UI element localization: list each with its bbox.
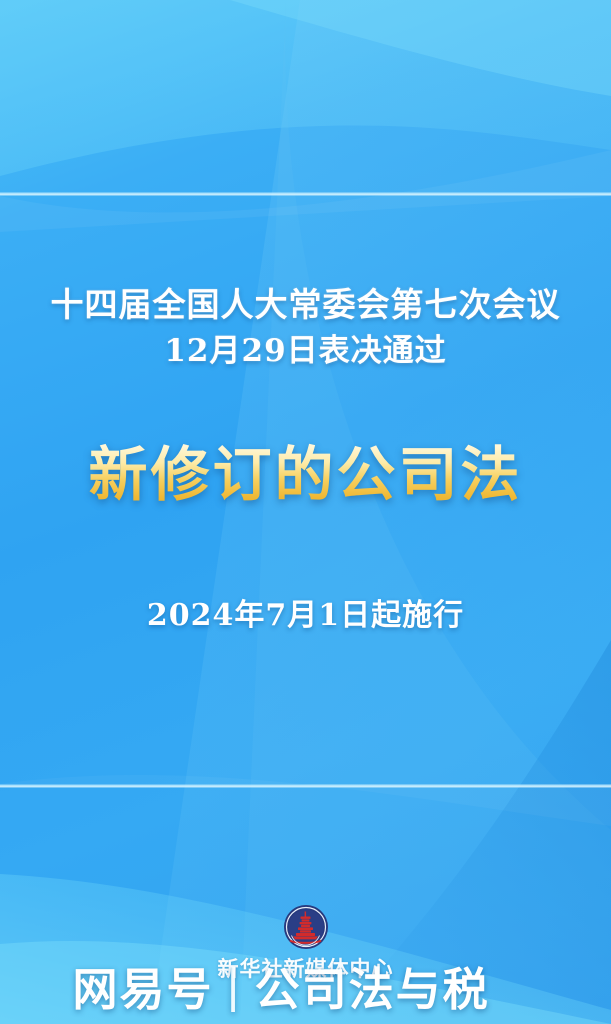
effective-date-subtitle: 2024年7月1日起施行 — [147, 590, 464, 634]
watermark-separator: | — [225, 959, 242, 1012]
watermark-brand: 网易号 — [72, 953, 213, 1018]
poster-footer: 新华社新媒体中心 网易号 | 公司法与税 — [0, 898, 611, 1024]
main-title: 新修订的公司法 — [88, 427, 522, 512]
heading-block: 十四届全国人大常委会第七次会议 12月29日表决通过 — [51, 282, 561, 373]
poster-content: 十四届全国人大常委会第七次会议 12月29日表决通过 新修订的公司法 2024年… — [0, 0, 611, 1024]
heading-line-2: 12月29日表决通过 — [51, 329, 561, 373]
platform-watermark: 网易号 | 公司法与税 — [72, 953, 489, 1018]
heading-line-1: 十四届全国人大常委会第七次会议 — [51, 282, 561, 329]
poster-canvas: 十四届全国人大常委会第七次会议 12月29日表决通过 新修订的公司法 2024年… — [0, 0, 611, 1024]
watermark-account-name: 公司法与税 — [255, 953, 490, 1018]
xinhua-agency-emblem-icon — [283, 904, 329, 950]
